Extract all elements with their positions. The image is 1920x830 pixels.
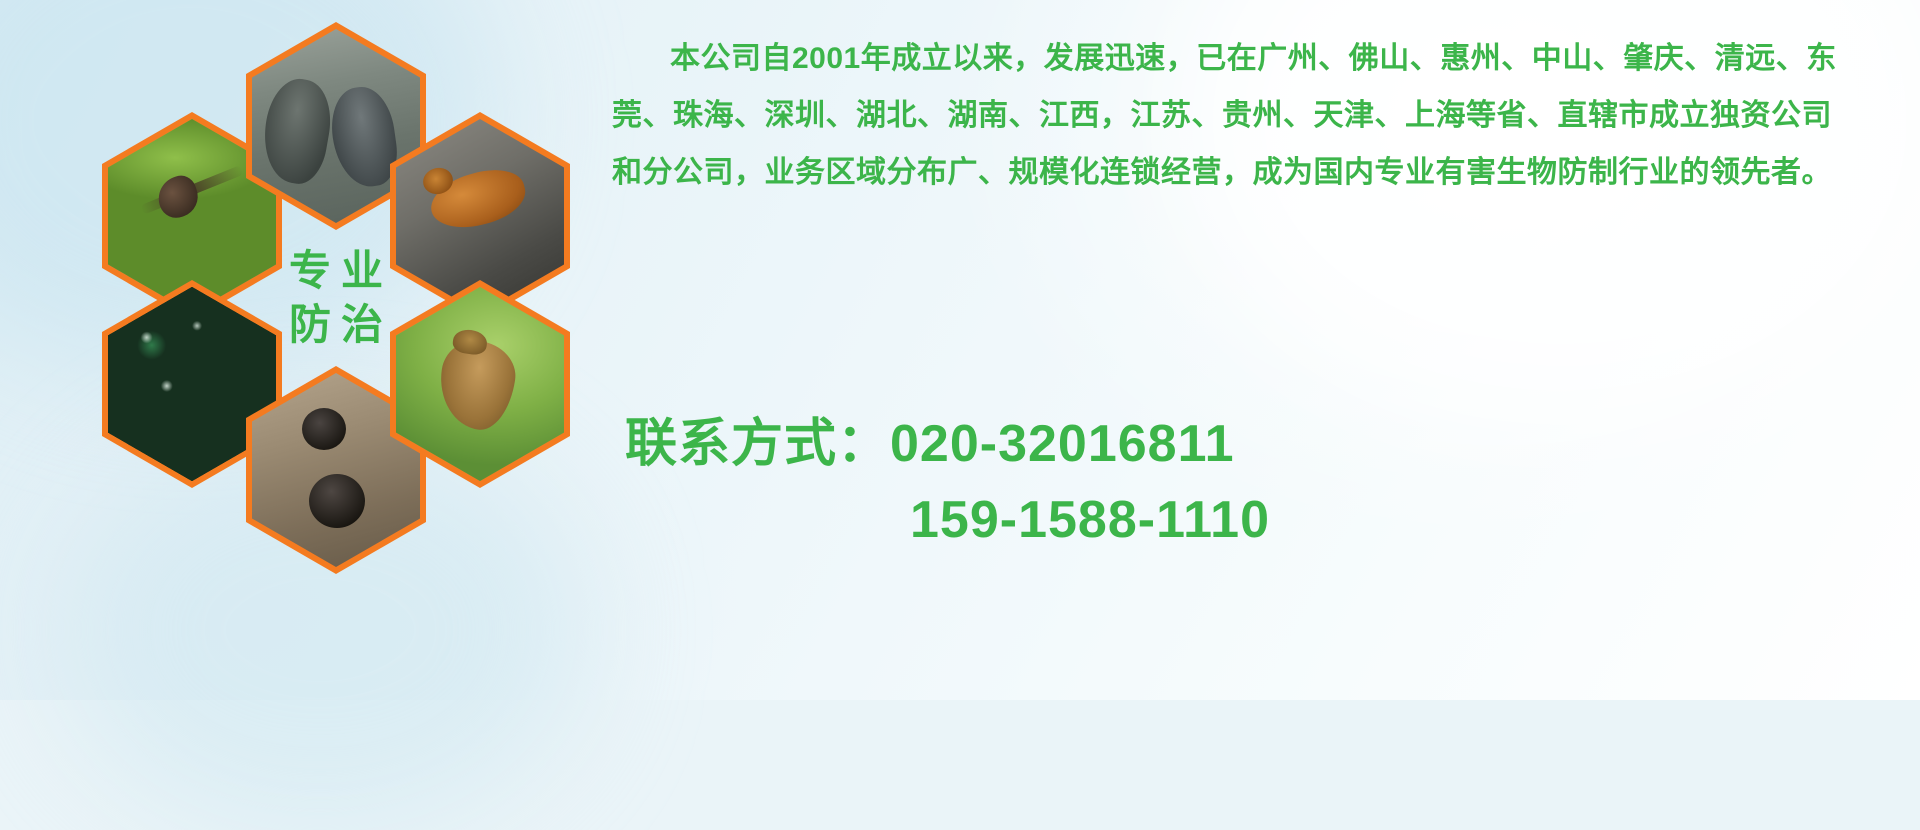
slogan-line-2: 防治 bbox=[279, 304, 393, 346]
company-intro-paragraph: 本公司自2001年成立以来，发展迅速，已在广州、佛山、惠州、中山、肇庆、清远、东… bbox=[612, 30, 1862, 201]
honeycomb-image-cluster: 专业 防治 bbox=[78, 8, 598, 568]
slogan-line-1: 专业 bbox=[279, 250, 393, 292]
promo-banner: 专业 防治 本公司自2001年成立以来，发展迅速，已在广州、佛山、惠州、中山、肇… bbox=[0, 0, 1920, 700]
contact-block: 联系方式：020-32016811 159-1588-1110 bbox=[625, 406, 1865, 558]
center-slogan-badge: 专业 防治 bbox=[246, 194, 426, 402]
contact-phone-secondary[interactable]: 159-1588-1110 bbox=[625, 482, 1865, 558]
intro-text-block: 本公司自2001年成立以来，发展迅速，已在广州、佛山、惠州、中山、肇庆、清远、东… bbox=[612, 30, 1862, 201]
contact-phone-primary[interactable]: 联系方式：020-32016811 bbox=[625, 406, 1865, 482]
